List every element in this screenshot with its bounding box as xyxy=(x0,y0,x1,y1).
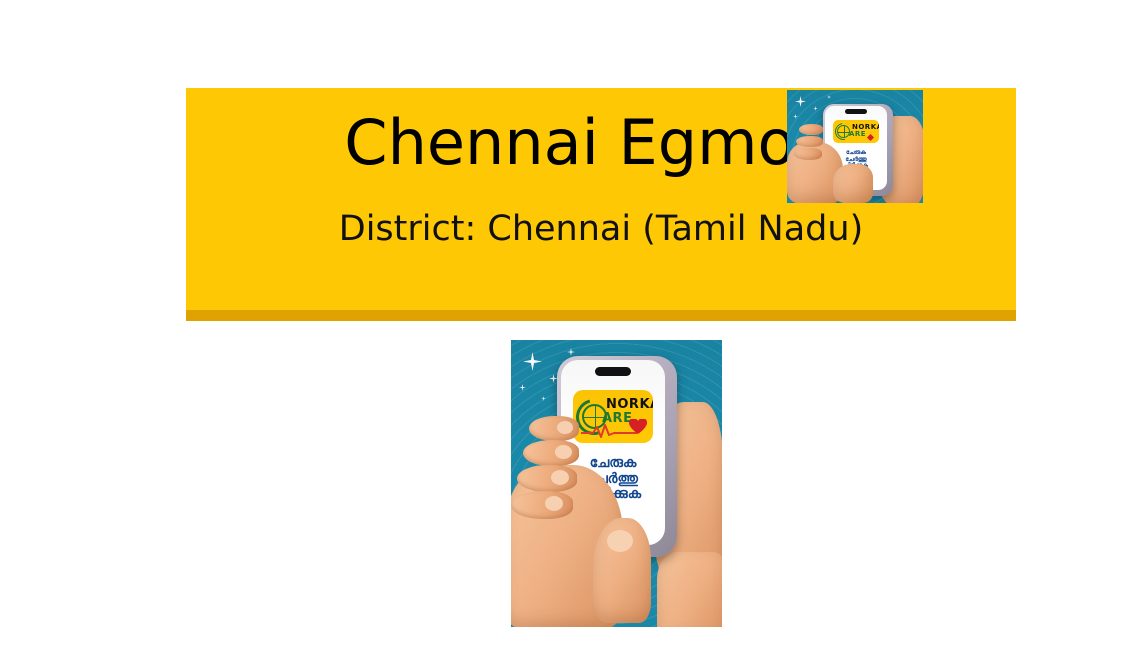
poster-art: NORKA ARE ചേരുക ചേർത്തു പിട xyxy=(511,340,722,627)
slogan-text-block: ചേരുക ചേർത്തു പിടിക്കുക xyxy=(563,456,663,503)
slogan-line-1: ചേരുക xyxy=(563,456,663,472)
norka-care-logo: NORKA ARE xyxy=(833,120,879,143)
phone-screen: NORKA ARE ചേരുക ചേർത്തു പിടിക്കുക xyxy=(825,106,887,190)
wrist-shape xyxy=(657,552,722,627)
dynamic-island-notch xyxy=(595,367,631,376)
finger-shape xyxy=(799,124,823,135)
banner-drop-shadow xyxy=(186,310,1016,321)
norka-care-logo: NORKA ARE xyxy=(573,390,653,443)
sparkle-icon xyxy=(793,114,798,119)
smartphone-device: NORKA ARE ചേരുക ചേർത്തു പിട xyxy=(557,356,677,557)
logo-text-care: ARE xyxy=(849,130,866,138)
slogan-line-3: പിടിക്കുക xyxy=(563,487,663,503)
sparkle-icon xyxy=(567,348,575,356)
slogan-text-block: ചേരുക ചേർത്തു പിടിക്കുക xyxy=(828,150,884,170)
slogan-line-3: പിടിക്കുക xyxy=(828,163,884,170)
sparkle-icon xyxy=(827,95,831,99)
smartphone-device: NORKA ARE ചേരുക ചേർത്തു പിടിക്കുക xyxy=(823,104,893,196)
heart-shape-icon xyxy=(629,419,647,435)
dynamic-island-notch xyxy=(845,109,867,114)
thumbnail-poster-art: NORKA ARE ചേരുക ചേർത്തു പിടിക്കുക xyxy=(787,90,923,203)
logo-text-norka: NORKA xyxy=(606,397,653,412)
main-poster-image: NORKA ARE ചേരുക ചേർത്തു പിട xyxy=(511,340,722,627)
heart-icon xyxy=(867,134,874,141)
sparkle-icon xyxy=(519,384,526,391)
sparkle-icon xyxy=(795,96,806,107)
sparkle-icon xyxy=(523,352,542,371)
title-banner: Chennai Egmore District: Chennai (Tamil … xyxy=(186,88,1016,316)
sparkle-icon xyxy=(813,106,818,111)
finger-shape xyxy=(794,148,822,160)
phone-screen: NORKA ARE ചേരുക ചേർത്തു പിട xyxy=(561,360,665,545)
sparkle-icon xyxy=(541,396,546,401)
slogan-line-2: ചേർത്തു xyxy=(563,472,663,488)
finger-shape xyxy=(796,136,823,147)
district-subtitle: District: Chennai (Tamil Nadu) xyxy=(186,212,1016,247)
banner-poster-thumbnail: NORKA ARE ചേരുക ചേർത്തു പിടിക്കുക xyxy=(787,90,923,203)
